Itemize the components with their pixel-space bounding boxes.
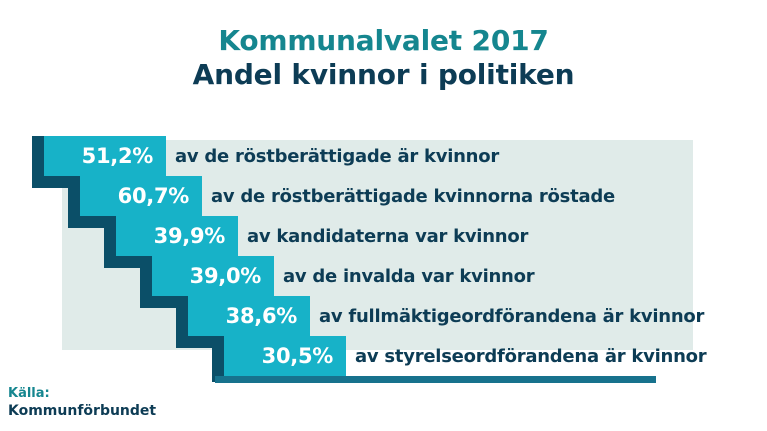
stat-value: 39,0% [190,264,261,288]
value-chip: 39,9% [116,216,238,256]
value-chip: 51,2% [44,136,166,176]
stat-label: av kandidaterna var kvinnor [247,216,528,256]
source-value: Kommunförbundet [8,402,156,421]
source-block: Källa: Kommunförbundet [8,385,156,421]
value-chip: 60,7% [80,176,202,216]
stat-row: 60,7%av de röstberättigade kvinnorna rös… [0,176,767,216]
value-chip: 30,5% [224,336,346,376]
source-label: Källa: [8,385,156,402]
stat-row: 39,0%av de invalda var kvinnor [0,256,767,296]
stat-value: 51,2% [82,144,153,168]
stat-label: av fullmäktigeordförandena är kvinnor [319,296,704,336]
stat-value: 60,7% [118,184,189,208]
stat-label: av styrelseordförandena är kvinnor [355,336,706,376]
stat-row: 51,2%av de röstberättigade är kvinnor [0,136,767,176]
stat-value: 30,5% [262,344,333,368]
infographic-canvas: Kommunalvalet 2017 Andel kvinnor i polit… [0,0,767,431]
stat-row: 38,6%av fullmäktigeordförandena är kvinn… [0,296,767,336]
baseline-rule [215,376,656,383]
stat-row: 30,5%av styrelseordförandena är kvinnor [0,336,767,376]
stat-label: av de röstberättigade är kvinnor [175,136,499,176]
value-chip: 39,0% [152,256,274,296]
stat-value: 38,6% [226,304,297,328]
stat-value: 39,9% [154,224,225,248]
stat-label: av de röstberättigade kvinnorna röstade [211,176,615,216]
staircase-rows: 51,2%av de röstberättigade är kvinnor60,… [0,0,767,431]
value-chip: 38,6% [188,296,310,336]
stat-label: av de invalda var kvinnor [283,256,534,296]
stat-row: 39,9%av kandidaterna var kvinnor [0,216,767,256]
